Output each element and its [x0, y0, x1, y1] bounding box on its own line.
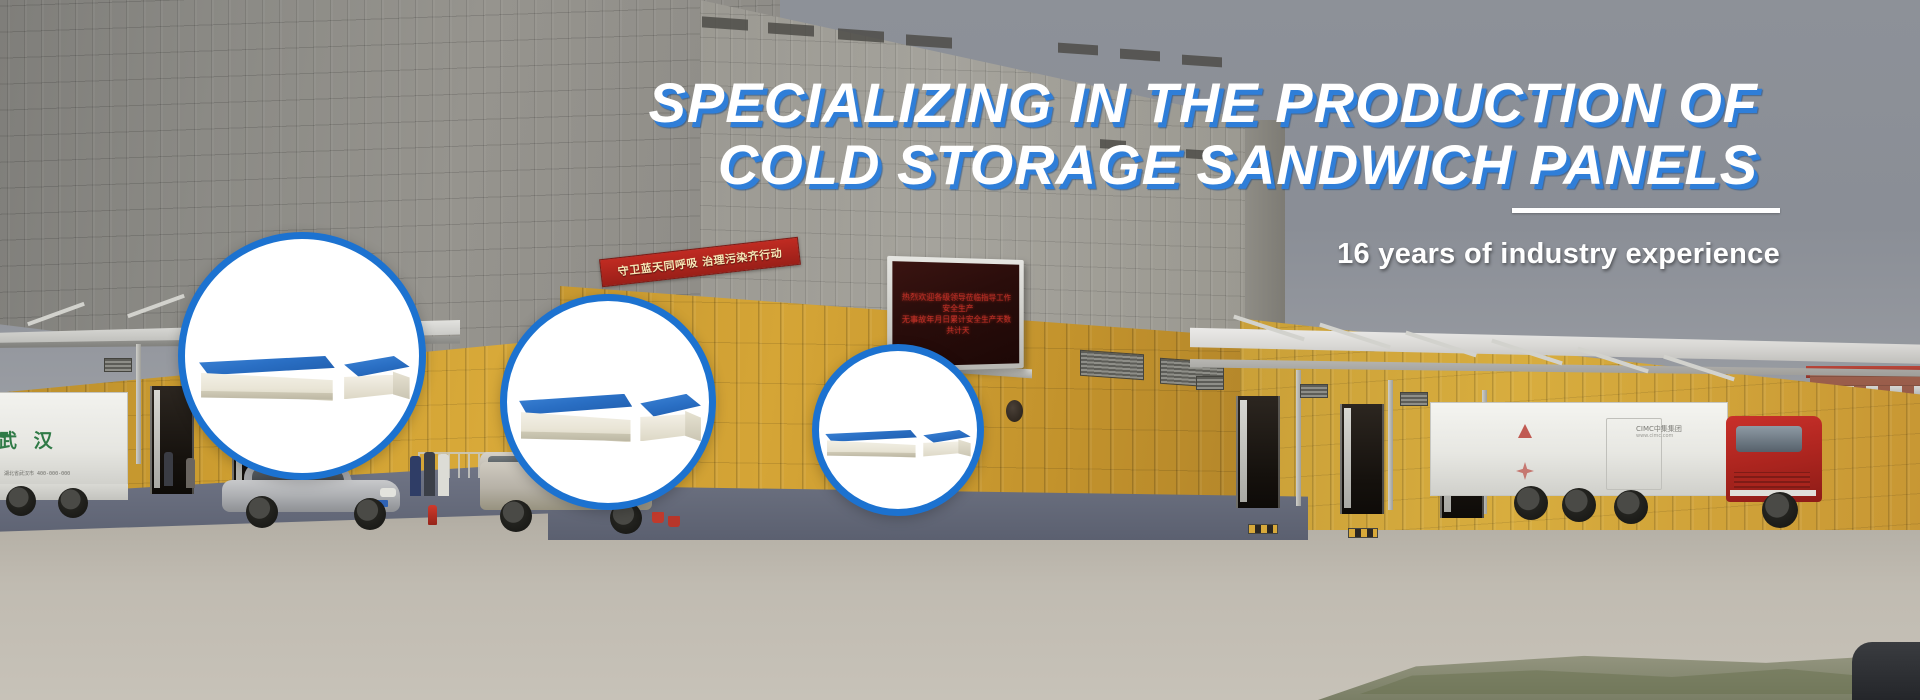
- truck-left-text: 武 汉: [0, 426, 58, 453]
- car-dark: [1852, 642, 1920, 700]
- dock-door-edge: [1240, 400, 1247, 502]
- truck-cab-grille: [1734, 472, 1810, 488]
- panel-core-side: [958, 439, 970, 456]
- sandwich-panel-long: [825, 430, 917, 465]
- panel-core-face: [640, 414, 687, 441]
- product-circle-small[interactable]: [812, 344, 984, 516]
- truck-cab-window: [1736, 426, 1802, 452]
- product-image-large: [185, 239, 419, 473]
- panel-blue-face: [825, 430, 917, 442]
- product-circle-medium[interactable]: [500, 294, 716, 510]
- sandwich-panel-short: [640, 394, 701, 451]
- truck-wheel: [1562, 488, 1596, 522]
- truck-wheel: [58, 488, 88, 518]
- bucket: [652, 512, 664, 523]
- dock-door-edge: [1344, 408, 1351, 508]
- person-figure: [438, 454, 449, 496]
- panel-blue-face: [344, 356, 410, 377]
- sedan-wheel: [354, 498, 386, 530]
- wall-louver: [1300, 384, 1328, 398]
- canopy-post: [1388, 380, 1393, 510]
- product-image-small: [819, 351, 977, 509]
- fire-hydrant: [428, 505, 437, 525]
- wall-louver: [1080, 350, 1144, 380]
- wall-louver: [1196, 376, 1224, 390]
- panel-core-face: [923, 441, 960, 456]
- sandwich-panel-short: [344, 356, 410, 407]
- panel-blue-face: [923, 430, 970, 443]
- person-figure: [164, 452, 173, 486]
- hero-banner: 守卫蓝天同呼吸 治理污染齐行动 热烈欢迎各级领导莅临指导工作 安全生产 无事故年…: [0, 0, 1920, 700]
- truck-wheel: [6, 486, 36, 516]
- panel-core-side: [393, 371, 410, 399]
- panel-core-side: [685, 411, 701, 442]
- bucket: [668, 516, 680, 527]
- led-line: 安全生产: [942, 304, 973, 313]
- product-circle-large[interactable]: [178, 232, 426, 480]
- truck-left-small-text: 湖北省武汉市 400-000-000: [4, 470, 70, 477]
- headline-line-1: SPECIALIZING IN THE PRODUCTION OF: [0, 72, 1758, 134]
- sandwich-panel-short: [923, 430, 970, 462]
- headline-line-2: COLD STORAGE SANDWICH PANELS: [0, 134, 1758, 196]
- dock-door-edge: [154, 390, 160, 488]
- sedan-wheel: [246, 496, 278, 528]
- wall-louver: [104, 358, 132, 372]
- wall-louver: [1400, 392, 1428, 406]
- sandwich-panel-long: [199, 356, 335, 412]
- led-line: 热烈欢迎各级领导莅临指导工作: [902, 292, 1011, 302]
- canopy-post: [136, 344, 141, 464]
- product-image-medium: [507, 301, 709, 503]
- person-figure: [424, 452, 435, 496]
- headline: SPECIALIZING IN THE PRODUCTION OF COLD S…: [0, 72, 1780, 196]
- van-wheel: [500, 500, 532, 532]
- dock-bumper: [1248, 524, 1278, 534]
- led-line: 无事故年月日累计安全生产天数: [902, 315, 1011, 325]
- wall-vent-hole: [1006, 400, 1023, 422]
- truck-right-logo-sub: www.cimc.com: [1636, 433, 1673, 439]
- sandwich-panel-long: [519, 394, 632, 455]
- sedan-headlight: [380, 488, 396, 497]
- panel-core-face: [344, 375, 395, 400]
- truck-wheel: [1762, 492, 1798, 528]
- panel-blue-face: [640, 394, 701, 417]
- dock-bumper: [1348, 528, 1378, 538]
- panel-blue-face: [519, 394, 632, 415]
- headline-divider: [1512, 208, 1780, 213]
- truck-wheel: [1514, 486, 1548, 520]
- truck-right-cab: [1726, 416, 1822, 502]
- headline-subtitle: 16 years of industry experience: [1337, 238, 1780, 271]
- truck-right-trailer: [1430, 402, 1728, 496]
- panel-blue-face: [199, 356, 335, 375]
- led-line: 共计天: [946, 326, 969, 335]
- truck-wheel: [1614, 490, 1648, 524]
